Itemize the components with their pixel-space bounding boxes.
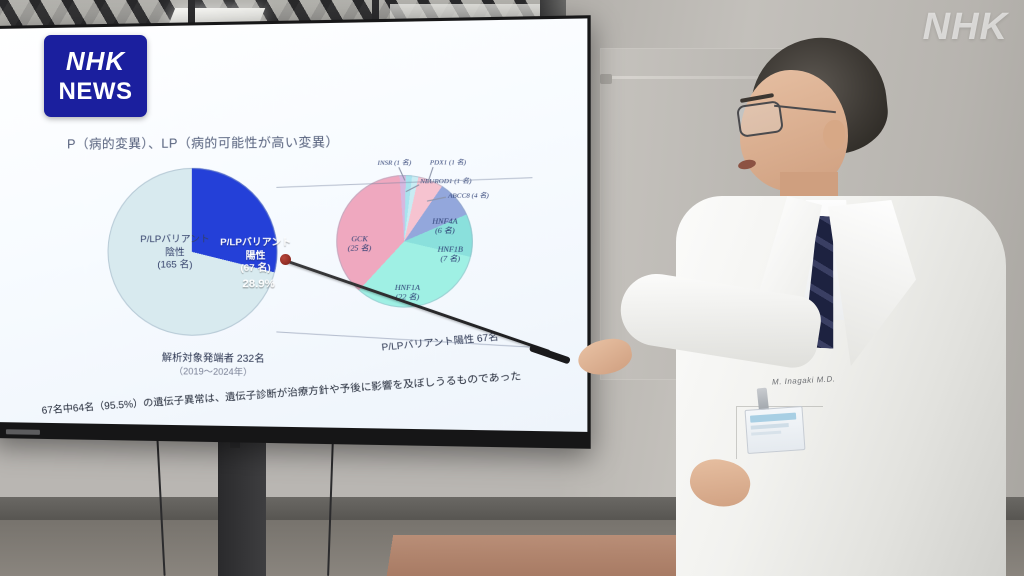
- display-brand-mark: [6, 429, 40, 435]
- gene-count-abcc8: (4 名): [472, 192, 489, 199]
- id-badge-line: [751, 423, 789, 430]
- gene-label-abcc8: ABCC8 (4 名): [448, 189, 489, 200]
- nhk-news-logo: NHK NEWS: [44, 35, 147, 117]
- nhk-logo-line1: NHK: [66, 46, 125, 77]
- gene-name-hnf4a: HNF4A: [423, 216, 466, 226]
- gene-name-hnf1b: HNF1B: [429, 244, 472, 254]
- gene-count-hnf4a: (6 名): [423, 226, 466, 236]
- gene-name-abcc8: ABCC8: [448, 192, 470, 199]
- slide-title: P（病的変異）、LP（病的可能性が高い変異）: [67, 131, 339, 152]
- pie-label-positive-percent: 28.9%: [227, 277, 289, 292]
- gene-label-hnf1b: HNF1B (7 名): [429, 244, 472, 264]
- presenter-ear: [823, 120, 845, 150]
- gene-count-insr: (1 名): [394, 159, 411, 166]
- pointer-tip: [280, 254, 291, 265]
- pie-label-positive-name: P/LPバリアント: [211, 237, 301, 250]
- id-badge-header-band: [750, 413, 796, 423]
- id-badge: [745, 406, 806, 454]
- gene-name-insr: INSR: [378, 160, 393, 167]
- gene-name-gck: GCK: [338, 234, 380, 244]
- broadcast-frame: P（病的変異）、LP（病的可能性が高い変異） P/LPバリアント 陰性 (165…: [0, 0, 1024, 576]
- panel-clip: [600, 74, 612, 84]
- nhk-logo-line2: NEWS: [59, 78, 133, 106]
- gene-count-hnf1b: (7 名): [429, 254, 472, 264]
- gene-name-pdx1: PDX1: [430, 159, 447, 166]
- gene-name-hnf1a: HNF1A: [384, 283, 431, 293]
- gene-count-pdx1: (1 名): [449, 159, 466, 166]
- gene-label-pdx1: PDX1 (1 名): [430, 156, 466, 167]
- gene-label-gck: GCK (25 名): [338, 234, 380, 254]
- caption-left-subtitle: （2019～2024年）: [116, 363, 312, 379]
- tv-stand: [218, 436, 266, 576]
- gene-count-gck: (25 名): [338, 244, 380, 254]
- presenter: M. Inagaki M.D.: [640, 20, 1024, 576]
- id-badge-line: [751, 431, 781, 436]
- gene-label-hnf1a: HNF1A (22 名): [384, 283, 431, 303]
- gene-label-insr: INSR (1 名): [378, 156, 412, 167]
- gene-label-hnf4a: HNF4A (6 名): [423, 216, 466, 236]
